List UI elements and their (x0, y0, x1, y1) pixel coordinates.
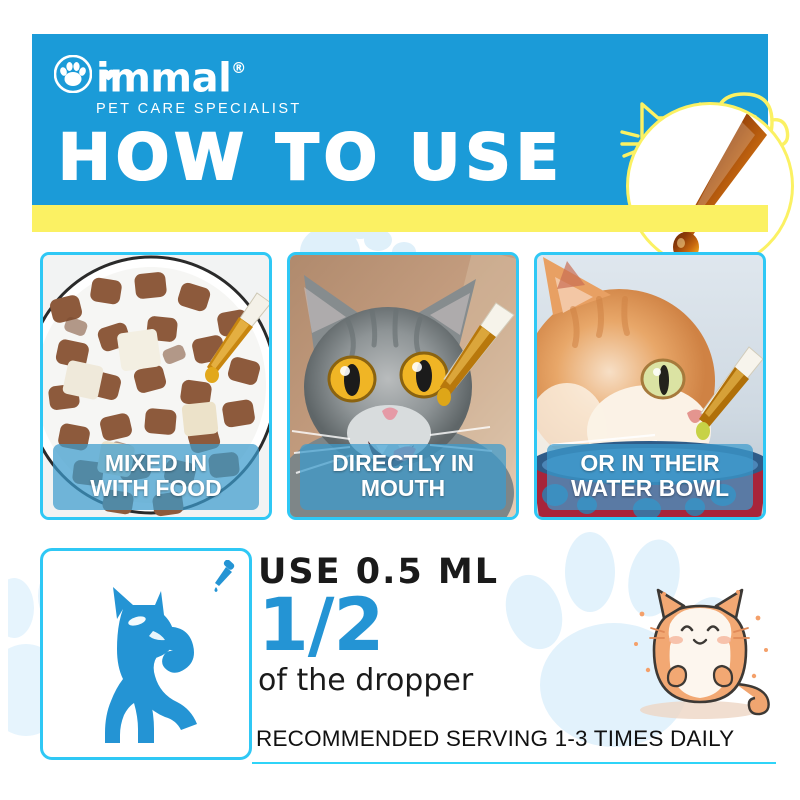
panel-directly-in-mouth[interactable]: DIRECTLY IN MOUTH (287, 252, 519, 520)
brand-name-text: immal (96, 55, 231, 101)
brand-name: immal® (96, 52, 246, 98)
caption-line-2: WITH FOOD (57, 476, 255, 501)
caption-line-1: DIRECTLY IN (304, 451, 502, 476)
panel-caption: DIRECTLY IN MOUTH (300, 444, 506, 510)
panel-caption: MIXED IN WITH FOOD (53, 444, 259, 510)
panel-in-water-bowl[interactable]: OR IN THEIR WATER BOWL (534, 252, 766, 520)
cat-silhouette-icon (69, 575, 229, 743)
poster-root: immal® PET CARE SPECIALIST HOW TO USE (0, 0, 800, 800)
registered-mark: ® (231, 59, 246, 77)
cartoon-ginger-cat-icon (608, 572, 786, 722)
caption-line-2: MOUTH (304, 476, 502, 501)
footer-divider (252, 762, 776, 764)
paw-print-icon (54, 55, 92, 93)
brand-logo: immal® PET CARE SPECIALIST (54, 52, 302, 117)
caption-line-1: MIXED IN (57, 451, 255, 476)
serving-note: RECOMMENDED SERVING 1-3 TIMES DAILY (256, 726, 780, 752)
cat-silhouette-card (40, 548, 252, 760)
brand-tagline: PET CARE SPECIALIST (96, 101, 302, 117)
dropper-hero-circle (626, 102, 794, 270)
header-banner: immal® PET CARE SPECIALIST HOW TO USE (32, 34, 768, 205)
usage-panels: MIXED IN WITH FOOD (40, 252, 766, 522)
hero-graphic (618, 74, 800, 270)
caption-line-2: WATER BOWL (551, 476, 749, 501)
yellow-divider-stripe (32, 205, 768, 232)
panel-mixed-with-food[interactable]: MIXED IN WITH FOOD (40, 252, 272, 520)
caption-line-1: OR IN THEIR (551, 451, 749, 476)
panel-caption: OR IN THEIR WATER BOWL (547, 444, 753, 510)
heart-icon (102, 48, 115, 88)
page-title: HOW TO USE (58, 126, 564, 189)
